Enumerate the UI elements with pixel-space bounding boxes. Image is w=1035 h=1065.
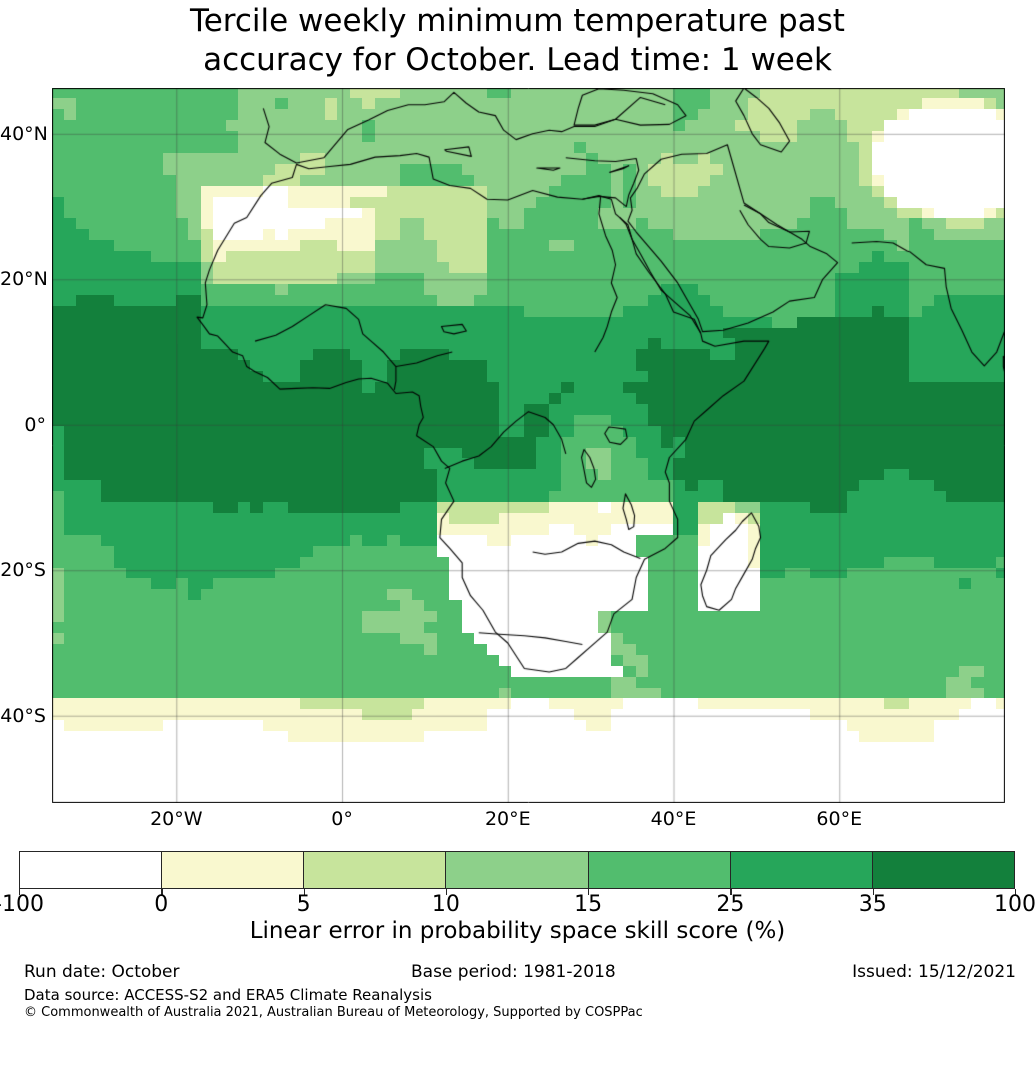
footer-issued-date: Issued: 15/12/2021	[852, 962, 1016, 982]
latitude-tick-label: 20°N	[0, 270, 46, 289]
colorbar-tick-label: 10	[432, 894, 460, 916]
colorbar-tick-label: -100	[0, 894, 44, 916]
colorbar[interactable]	[19, 851, 1015, 889]
footer-run-date: Run date: October	[24, 962, 180, 982]
longitude-tick-label: 40°E	[651, 810, 697, 829]
latitude-tick-label: 0°	[0, 416, 46, 435]
colorbar-segment	[20, 852, 162, 888]
colorbar-segment	[304, 852, 446, 888]
latitude-tick-label: 40°S	[0, 707, 46, 726]
colorbar-tick-label: 25	[716, 894, 744, 916]
colorbar-segment	[446, 852, 588, 888]
colorbar-segment	[162, 852, 304, 888]
latitude-tick-label: 40°N	[0, 125, 46, 144]
colorbar-tick-label: 35	[859, 894, 887, 916]
colorbar-segment	[589, 852, 731, 888]
footer-data-source: Data source: ACCESS-S2 and ERA5 Climate …	[24, 986, 432, 1004]
longitude-tick-label: 60°E	[816, 810, 862, 829]
colorbar-tick-label: 15	[574, 894, 602, 916]
coastline-and-gridline-overlay	[52, 88, 1005, 803]
page-title: Tercile weekly minimum temperature past …	[0, 2, 1035, 80]
colorbar-segment	[731, 852, 873, 888]
latitude-tick-label: 20°S	[0, 561, 46, 580]
colorbar-tick-label: 5	[297, 894, 311, 916]
longitude-tick-label: 20°E	[485, 810, 531, 829]
map-plot-area[interactable]	[52, 88, 1005, 803]
colorbar-tick-label: 100	[994, 894, 1035, 916]
figure-root: Tercile weekly minimum temperature past …	[0, 0, 1035, 1065]
longitude-tick-label: 20°W	[150, 810, 202, 829]
colorbar-segment	[873, 852, 1014, 888]
longitude-tick-label: 0°	[331, 810, 353, 829]
colorbar-tick-label: 0	[154, 894, 168, 916]
footer-base-period: Base period: 1981-2018	[411, 962, 616, 982]
footer-copyright: © Commonwealth of Australia 2021, Austra…	[24, 1005, 643, 1021]
colorbar-label: Linear error in probability space skill …	[0, 918, 1035, 945]
